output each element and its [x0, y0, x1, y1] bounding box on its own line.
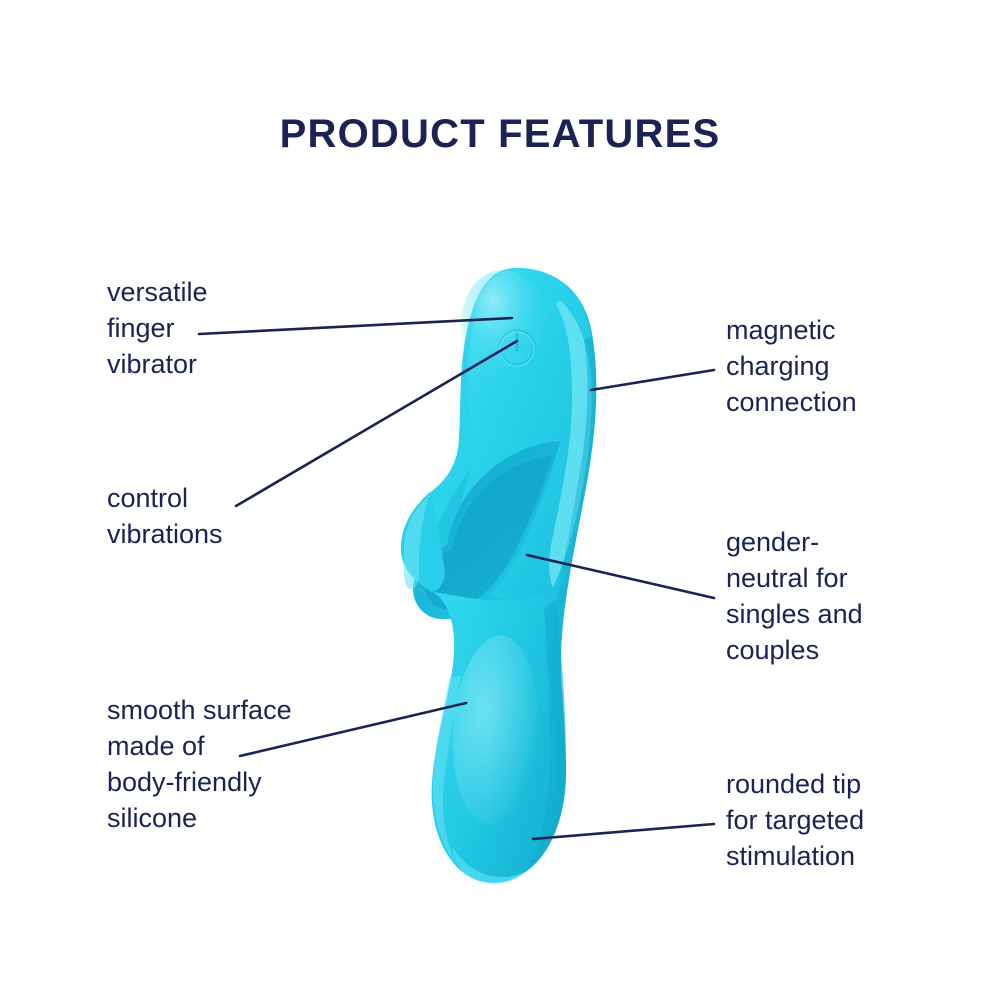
leader-line-control-vibrations: [236, 341, 517, 506]
leader-line-versatile-finger-vibrator: [199, 318, 512, 334]
leader-lines: [0, 0, 1000, 1000]
leader-line-gender-neutral: [527, 555, 714, 598]
leader-line-rounded-tip: [533, 824, 714, 839]
leader-line-smooth-surface-silicone: [240, 703, 466, 756]
product-features-infographic: PRODUCT FEATURES: [0, 0, 1000, 1000]
leader-line-magnetic-charging: [591, 370, 714, 390]
